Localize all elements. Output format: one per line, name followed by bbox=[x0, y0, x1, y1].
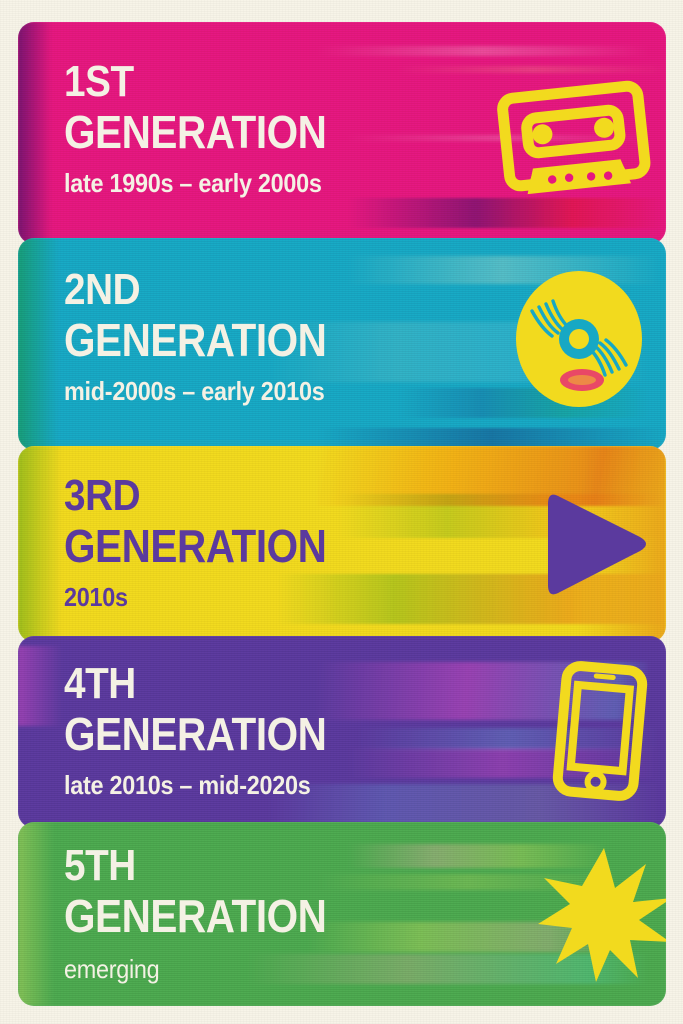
band-5-word: GENERATION bbox=[64, 895, 326, 937]
band-5-ordinal: 5TH bbox=[64, 846, 326, 886]
band-5-text-block: 5TH GENERATION emerging bbox=[64, 846, 362, 985]
band-3-text-block: 3RD GENERATION 2010s bbox=[64, 476, 362, 613]
band-1-smear-a bbox=[318, 46, 648, 56]
band-1-smear-c bbox=[348, 135, 648, 141]
band-5-smear-a bbox=[348, 844, 608, 868]
band-2-smear-a bbox=[348, 256, 658, 284]
band-1-smear-b bbox=[398, 66, 666, 73]
band-3-smear-a bbox=[318, 446, 666, 506]
band-4-word: GENERATION bbox=[64, 713, 326, 755]
band-2-smear-d bbox=[18, 238, 58, 450]
generation-band-stack: 1ST GENERATION late 1990s – early 2000s bbox=[18, 22, 666, 1006]
generation-band-1[interactable]: 1ST GENERATION late 1990s – early 2000s bbox=[18, 22, 666, 244]
cassette-tape-icon bbox=[494, 76, 654, 201]
band-3-smear-d bbox=[18, 446, 62, 642]
band-2-text-block: 2ND GENERATION mid-2000s – early 2010s bbox=[64, 270, 362, 407]
band-1-subtitle: late 1990s – early 2000s bbox=[64, 168, 332, 199]
band-4-text-block: 4TH GENERATION late 2010s – mid-2020s bbox=[64, 664, 362, 801]
band-5-smear-e bbox=[18, 822, 54, 1006]
band-1-smear-e bbox=[18, 22, 52, 244]
band-1-smear-d bbox=[348, 198, 666, 228]
band-1-ordinal: 1ST bbox=[64, 62, 326, 102]
band-4-smear-e bbox=[18, 646, 62, 726]
compact-disc-icon bbox=[504, 264, 654, 414]
generation-band-3[interactable]: 3RD GENERATION 2010s bbox=[18, 446, 666, 642]
band-3-word: GENERATION bbox=[64, 525, 326, 567]
band-4-smear-b bbox=[358, 728, 658, 750]
band-3-ordinal: 3RD bbox=[64, 476, 326, 516]
band-3-smear-b bbox=[338, 494, 666, 538]
band-3-smear-e bbox=[578, 446, 666, 642]
band-4-subtitle: late 2010s – mid-2020s bbox=[64, 770, 332, 801]
band-4-ordinal: 4TH bbox=[64, 664, 326, 704]
band-3-subtitle: 2010s bbox=[64, 582, 332, 613]
band-2-word: GENERATION bbox=[64, 319, 326, 361]
band-4-smear-c bbox=[348, 748, 658, 778]
starburst-icon bbox=[534, 842, 666, 982]
band-5-subtitle: emerging bbox=[64, 954, 332, 985]
generation-band-5[interactable]: 5TH GENERATION emerging bbox=[18, 822, 666, 1006]
smartphone-icon bbox=[540, 656, 660, 806]
band-5-smear-b bbox=[318, 874, 618, 890]
band-1-text-block: 1ST GENERATION late 1990s – early 2000s bbox=[64, 62, 362, 199]
band-2-smear-c bbox=[398, 388, 648, 418]
generation-band-2[interactable]: 2ND GENERATION mid-2000s – early 2010s bbox=[18, 238, 666, 450]
band-1-word: GENERATION bbox=[64, 111, 326, 153]
band-4-smear-a bbox=[318, 662, 648, 720]
band-2-subtitle: mid-2000s – early 2010s bbox=[64, 376, 332, 407]
poster-canvas: 1ST GENERATION late 1990s – early 2000s bbox=[0, 0, 683, 1024]
play-button-icon bbox=[526, 482, 656, 607]
band-2-ordinal: 2ND bbox=[64, 270, 326, 310]
generation-band-4[interactable]: 4TH GENERATION late 2010s – mid-2020s bbox=[18, 636, 666, 828]
